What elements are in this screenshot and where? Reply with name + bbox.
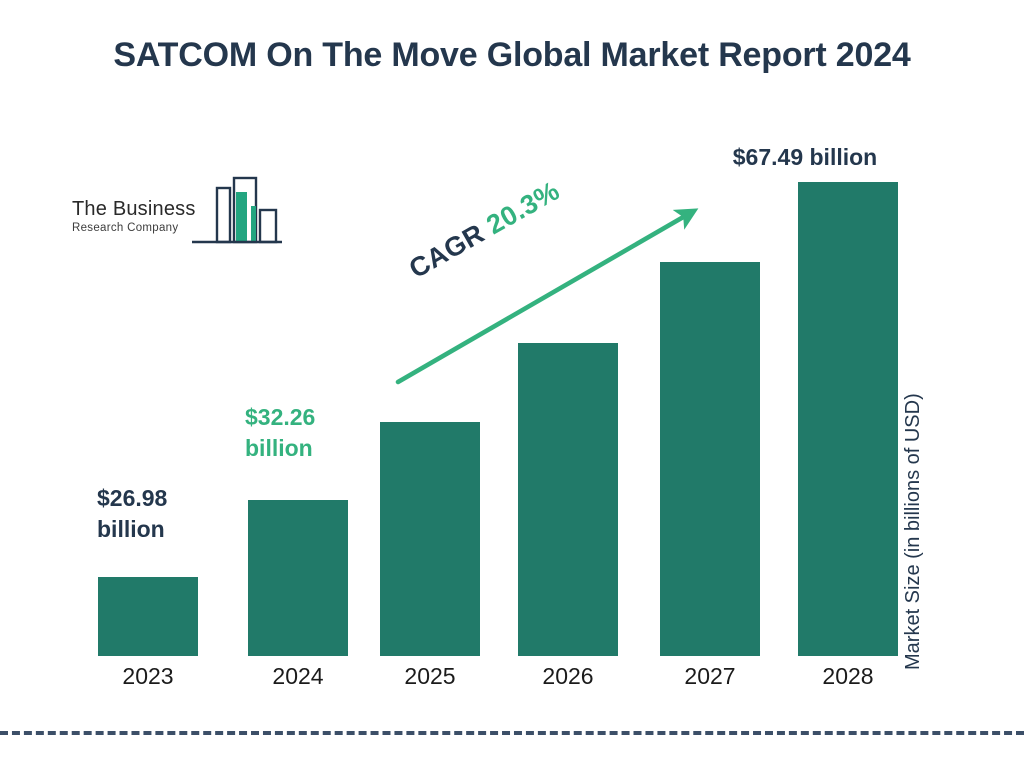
value-label-2024-line1: $32.26	[245, 402, 385, 433]
chart-page: SATCOM On The Move Global Market Report …	[0, 0, 1024, 768]
x-axis-label-2026: 2026	[508, 663, 628, 690]
x-axis-label-2025: 2025	[370, 663, 490, 690]
value-label-2024: $32.26 billion	[245, 402, 385, 464]
value-label-2023: $26.98 billion	[97, 483, 237, 545]
bar-2028	[798, 182, 898, 656]
y-axis-title: Market Size (in billions of USD)	[902, 0, 925, 290]
value-label-2024-line2: billion	[245, 433, 385, 464]
footer-divider	[0, 731, 1024, 735]
value-label-2023-line1: $26.98	[97, 483, 237, 514]
bar-2024	[248, 500, 348, 656]
bar-2025	[380, 422, 480, 656]
y-axis-title-text: Market Size (in billions of USD)	[902, 290, 925, 670]
x-axis-label-2023: 2023	[88, 663, 208, 690]
x-axis-label-2024: 2024	[238, 663, 358, 690]
value-label-2028: $67.49 billion	[690, 142, 920, 173]
growth-arrow-icon	[380, 190, 720, 400]
bar-2023	[98, 577, 198, 656]
x-axis-label-2028: 2028	[788, 663, 908, 690]
x-axis-label-2027: 2027	[650, 663, 770, 690]
value-label-2023-line2: billion	[97, 514, 237, 545]
